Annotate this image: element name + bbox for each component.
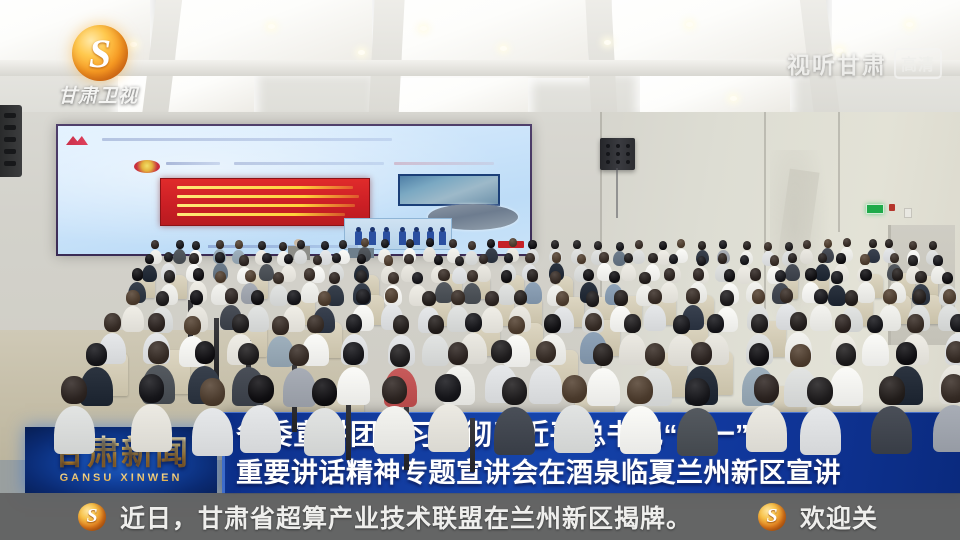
audience-member	[800, 377, 841, 455]
wall-speaker-right	[600, 138, 635, 170]
ceiling-downlight	[500, 46, 507, 51]
ceiling-downlight	[906, 22, 913, 27]
audience-member	[677, 378, 718, 456]
program-title-en: GANSU XINWEN	[60, 471, 183, 485]
audience-member	[933, 374, 960, 452]
ceiling-downlight	[730, 96, 737, 101]
news-ticker: 近日，甘肃省超算产业技术联盟在兰州新区揭牌。欢迎关	[0, 493, 960, 540]
audience-member	[621, 253, 636, 282]
party-emblem-icon	[66, 134, 88, 146]
hd-badge: 高清	[894, 48, 942, 79]
ticker-channel-icon	[758, 503, 786, 531]
audience-member	[294, 240, 307, 264]
audience-member	[54, 376, 95, 454]
channel-logo: S 甘肃卫视	[58, 25, 218, 103]
wall-plate	[904, 208, 912, 218]
hd-watermark: 视听甘肃 高清	[787, 46, 942, 80]
ceiling-downlight	[686, 22, 693, 27]
ticker-text: 欢迎关	[800, 499, 878, 535]
wall-speaker-left	[0, 105, 22, 177]
ceiling-downlight	[268, 24, 275, 29]
fire-alarm-icon	[889, 204, 895, 211]
ticker-text: 近日，甘肃省超算产业技术联盟在兰州新区揭牌。	[120, 499, 692, 535]
exit-sign-icon	[866, 204, 884, 214]
audience-member	[240, 375, 281, 453]
audience-member	[554, 375, 595, 453]
audience-member	[746, 374, 787, 452]
audience-member	[644, 289, 666, 331]
audience-member	[192, 378, 233, 456]
audience-member	[494, 377, 535, 455]
broadcast-screen: S 甘肃卫视 视听甘肃 高清 省委宣讲团学习贯彻习近平总书记“七一” 重要讲话精…	[0, 0, 960, 540]
ceiling-downlight	[358, 50, 365, 55]
audience	[0, 232, 960, 432]
ticker-item: 欢迎关	[758, 499, 878, 535]
audience-member	[428, 374, 469, 452]
audience-member	[871, 376, 912, 454]
speaker-mount	[616, 168, 618, 218]
ticker-item: 近日，甘肃省超算产业技术联盟在兰州新区揭牌。	[78, 499, 692, 535]
channel-logo-letter: S	[72, 25, 128, 81]
channel-name: 甘肃卫视	[58, 81, 218, 108]
party-badge-icon	[134, 160, 160, 173]
headline-line-2: 重要讲话精神专题宣讲会在酒泉临夏兰州新区宣讲	[236, 454, 960, 493]
slide-red-textbox	[160, 178, 370, 226]
audience-member	[304, 378, 345, 456]
ticker-channel-icon	[78, 503, 106, 531]
slide-photo-landscape	[398, 174, 500, 206]
ceiling-downlight	[420, 26, 427, 31]
audience-member	[131, 374, 172, 452]
audience-member	[620, 376, 661, 454]
audience-member	[374, 376, 415, 454]
chair-leg	[470, 418, 475, 472]
audience-member	[862, 315, 889, 366]
watermark-text: 视听甘肃	[787, 46, 887, 80]
ceiling-downlight	[604, 40, 611, 45]
audience-member	[800, 240, 813, 264]
